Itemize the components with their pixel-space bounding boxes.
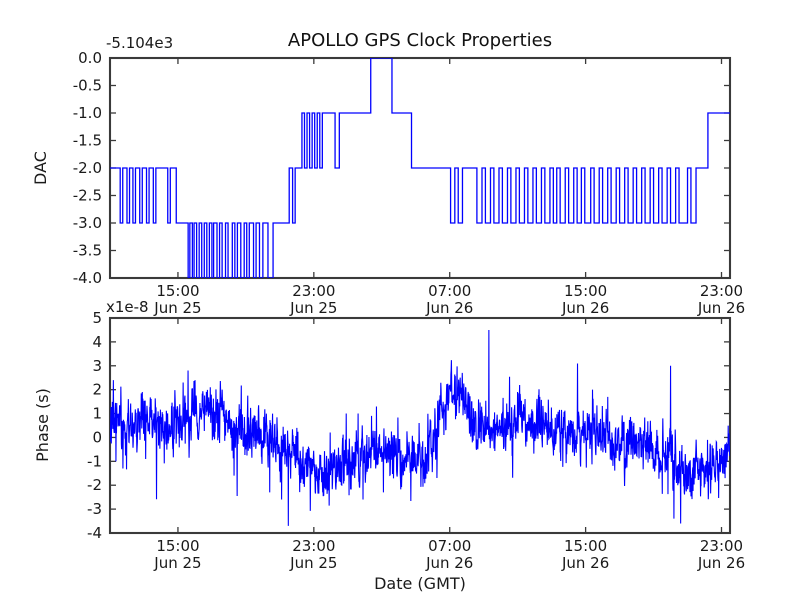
y-tick-label: -1.5 (73, 132, 102, 150)
y-tick-label: -1 (87, 452, 102, 470)
phase-y-offset-label: x1e-8 (106, 298, 149, 316)
dac-y-axis-label: DAC (31, 151, 50, 185)
x-tick-label: 23:00 (700, 537, 743, 555)
y-tick-label: 2 (92, 381, 102, 399)
x-tick-label: 15:00 (156, 537, 199, 555)
x-tick-label: Jun 25 (153, 554, 201, 572)
y-tick-label: 5 (92, 309, 102, 327)
x-tick-label: 15:00 (564, 537, 607, 555)
y-tick-label: 0.0 (78, 49, 102, 67)
x-tick-label: Jun 25 (289, 554, 337, 572)
y-tick-label: -1.0 (73, 104, 102, 122)
y-tick-label: -2.5 (73, 187, 102, 205)
y-tick-label: -4 (87, 524, 102, 542)
x-tick-label: 23:00 (292, 537, 335, 555)
x-tick-label: Jun 26 (561, 554, 609, 572)
y-tick-label: 1 (92, 405, 102, 423)
y-tick-label: -2 (87, 476, 102, 494)
x-tick-label: 07:00 (428, 537, 471, 555)
matplotlib-figure: APOLLO GPS Clock Properties 0.0-0.5-1.0-… (0, 0, 800, 600)
x-tick-label: Jun 25 (289, 299, 337, 317)
x-tick-label: 15:00 (156, 282, 199, 300)
y-tick-label: -2.0 (73, 159, 102, 177)
y-tick-label: -4.0 (73, 269, 102, 287)
y-tick-label: -3 (87, 500, 102, 518)
y-tick-label: 4 (92, 333, 102, 351)
y-tick-label: 0 (92, 428, 102, 446)
x-tick-label: Jun 26 (425, 554, 473, 572)
y-tick-label: -3.5 (73, 242, 102, 260)
figure-canvas: APOLLO GPS Clock Properties 0.0-0.5-1.0-… (0, 0, 800, 600)
x-tick-label: 07:00 (428, 282, 471, 300)
x-tick-label: Jun 26 (697, 299, 745, 317)
x-tick-label: Jun 26 (697, 554, 745, 572)
x-tick-label: Jun 26 (561, 299, 609, 317)
x-tick-label: 23:00 (700, 282, 743, 300)
x-tick-label: Jun 25 (153, 299, 201, 317)
phase-y-axis-label: Phase (s) (33, 388, 52, 462)
x-tick-label: 23:00 (292, 282, 335, 300)
y-tick-label: 3 (92, 357, 102, 375)
x-tick-label: 15:00 (564, 282, 607, 300)
y-tick-label: -0.5 (73, 77, 102, 95)
dac-y-offset-label: -5.104e3 (106, 34, 173, 52)
x-tick-label: Jun 26 (425, 299, 473, 317)
y-tick-label: -3.0 (73, 214, 102, 232)
phase-x-axis-label: Date (GMT) (374, 574, 466, 593)
page-title: APOLLO GPS Clock Properties (288, 30, 552, 51)
